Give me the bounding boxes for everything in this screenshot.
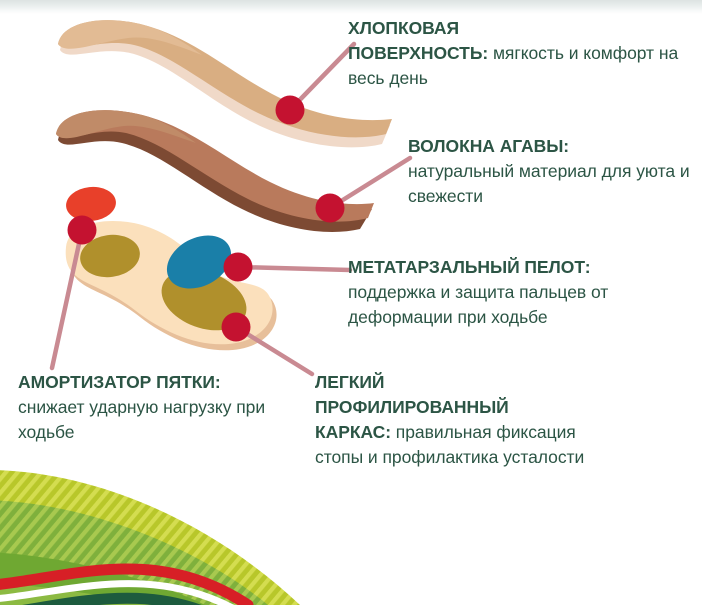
agave-fibers-callout: ВОЛОКНА АГАВЫ: натуральный материал для … [408, 134, 698, 209]
marker-dot-frame[interactable] [222, 313, 251, 342]
marker-dot-agave[interactable] [316, 194, 345, 223]
marker-dot-heel[interactable] [68, 216, 97, 245]
leader-line-metatarsal [238, 267, 350, 270]
light-profiled-frame-callout: ЛЕГКИЙ ПРОФИЛИРОВАННЫЙ КАРКАС: правильна… [315, 370, 615, 470]
agave-field-swoosh [0, 470, 300, 605]
light-profiled-frame-heading-line1: ЛЕГКИЙ [315, 372, 384, 392]
light-profiled-frame-heading-line2: ПРОФИЛИРОВАННЫЙ [315, 397, 509, 417]
cotton-surface-heading-line2: ПОВЕРХНОСТЬ: [348, 43, 488, 63]
metatarsal-pad-callout: МЕТАТАРЗАЛЬНЫЙ ПЕЛОТ: поддержка и защита… [348, 255, 700, 330]
heel-shock-absorber-heading: АМОРТИЗАТОР ПЯТКИ: [18, 372, 221, 392]
agave-fibers-heading: ВОЛОКНА АГАВЫ: [408, 136, 569, 156]
heel-cushion-pad [64, 184, 117, 223]
heel-shock-absorber-callout: АМОРТИЗАТОР ПЯТКИ: снижает ударную нагру… [18, 370, 308, 445]
marker-dot-metatarsal[interactable] [224, 253, 253, 282]
metatarsal-pad-heading: МЕТАТАРЗАЛЬНЫЙ ПЕЛОТ: [348, 257, 591, 277]
light-profiled-frame-heading-line3: КАРКАС: [315, 422, 391, 442]
marker-dot-cotton[interactable] [276, 96, 305, 125]
cotton-surface-heading-line1: ХЛОПКОВАЯ [348, 18, 459, 38]
infographic-root: ХЛОПКОВАЯ ПОВЕРХНОСТЬ: мягкость и комфор… [0, 0, 702, 605]
heel-shock-absorber-body: снижает ударную нагрузку при ходьбе [18, 397, 265, 442]
agave-fibers-body: натуральный материал для уюта и свежести [408, 161, 690, 206]
cotton-surface-callout: ХЛОПКОВАЯ ПОВЕРХНОСТЬ: мягкость и комфор… [348, 16, 693, 91]
metatarsal-pad-body: поддержка и защита пальцев от деформации… [348, 282, 608, 327]
